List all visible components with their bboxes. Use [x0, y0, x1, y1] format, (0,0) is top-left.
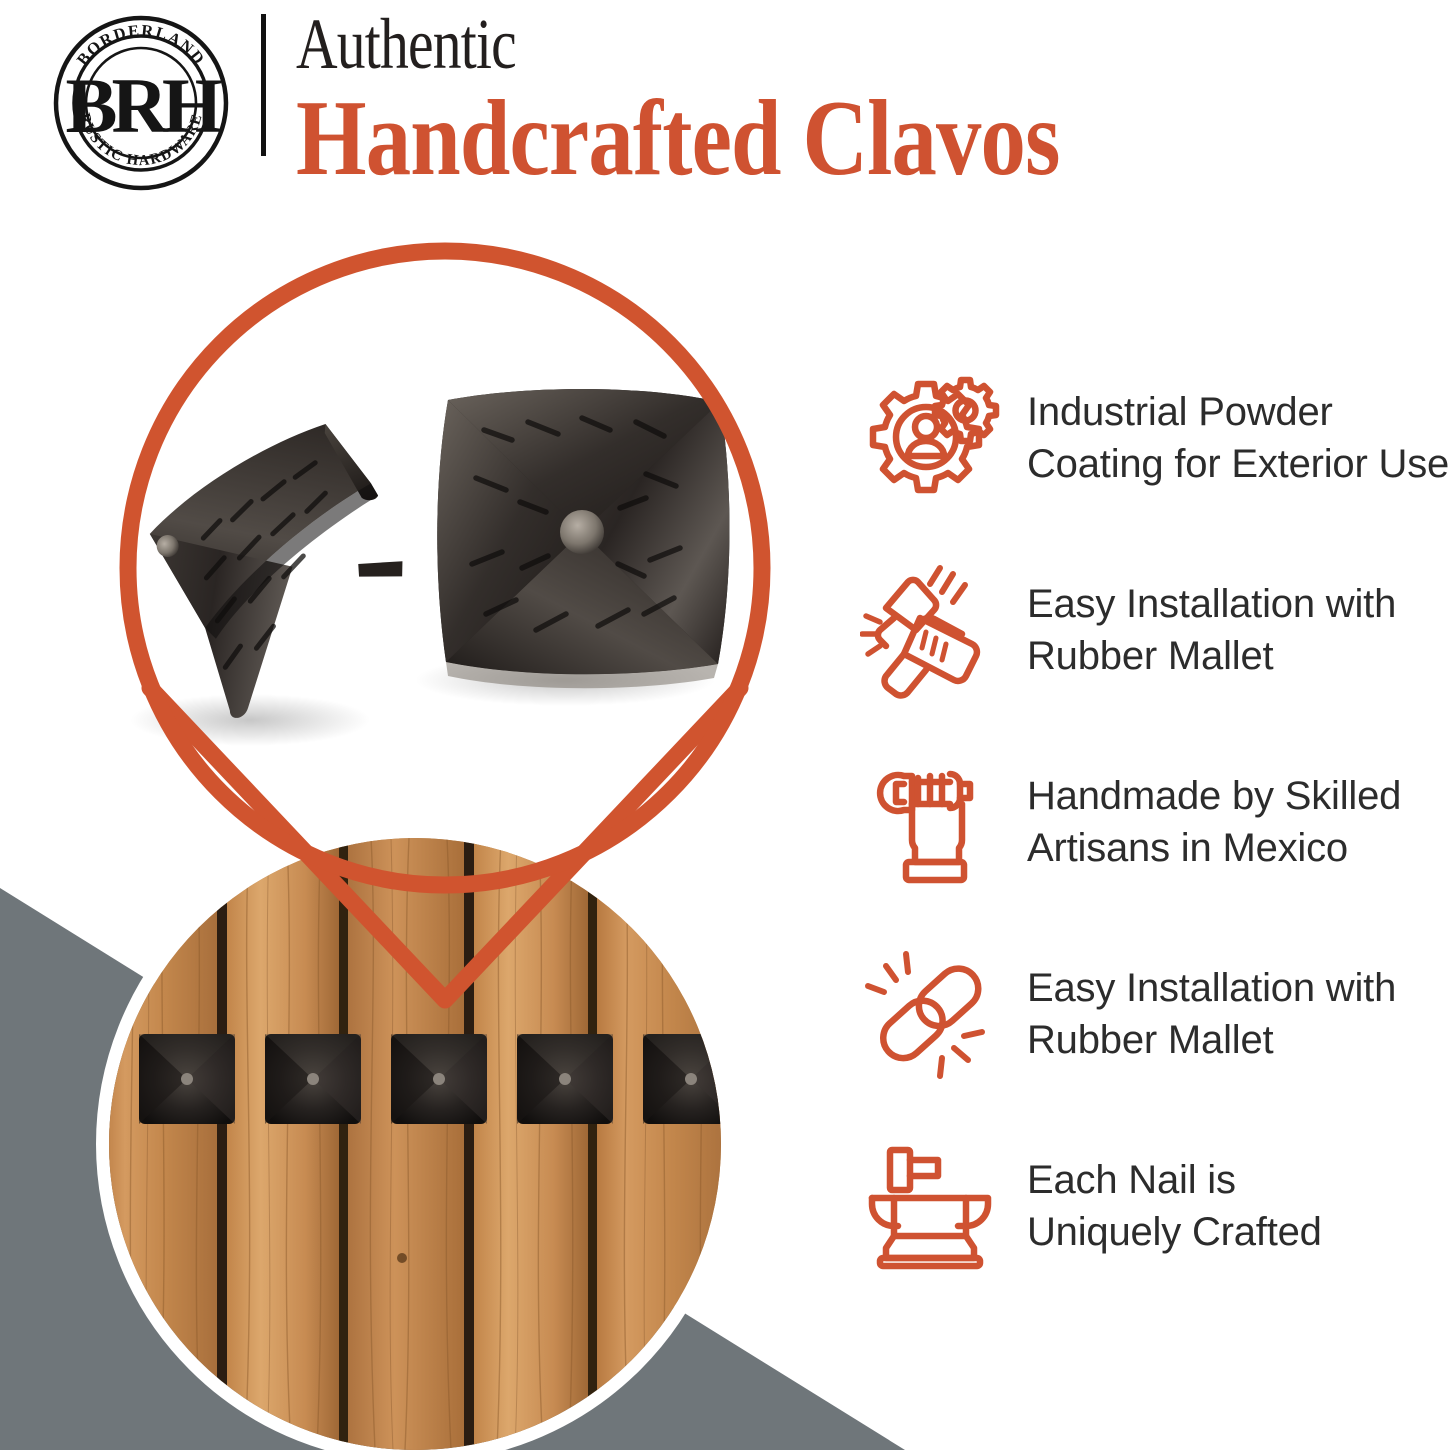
feature-label-line: Easy Installation with [1027, 578, 1448, 630]
clavo-front-face-view [437, 389, 729, 688]
anvil-hammer-icon [855, 1131, 1005, 1281]
hand-mallet-icon [855, 555, 1005, 705]
feature-label-line: Rubber Mallet [1027, 630, 1448, 682]
wooden-door-photo [96, 825, 734, 1450]
gear-person-icon [855, 363, 1005, 513]
feature-label-line: Handmade by Skilled [1027, 770, 1448, 822]
feature-label: Each Nail is Uniquely Crafted [1005, 1154, 1448, 1258]
page-title-line-2: Handcrafted Clavos [296, 84, 1254, 194]
fist-wrench-icon [855, 747, 1005, 897]
feature-label: Industrial Powder Coating for Exterior U… [1005, 386, 1448, 490]
feature-label-line: Easy Installation with [1027, 962, 1448, 1014]
infographic-page: BORDERLAND RUSTIC HARDWARE BRH Authentic… [0, 0, 1448, 1450]
feature-label-line: Rubber Mallet [1027, 1014, 1448, 1066]
feature-item: Easy Installation with Rubber Mallet [855, 936, 1448, 1092]
feature-label-line: Industrial Powder [1027, 386, 1448, 438]
header-divider [261, 14, 266, 156]
svg-text:BRH: BRH [65, 62, 221, 149]
feature-label: Handmade by Skilled Artisans in Mexico [1005, 770, 1448, 874]
header: BORDERLAND RUSTIC HARDWARE BRH Authentic… [0, 0, 1448, 200]
feature-item: Each Nail is Uniquely Crafted [855, 1128, 1448, 1284]
title-block: Authentic Handcrafted Clavos [296, 0, 1436, 194]
page-title-line-1: Authentic [296, 6, 1208, 82]
feature-label-line: Each Nail is [1027, 1154, 1448, 1206]
visual-column [0, 190, 820, 1450]
forged-clavos-product-photo [110, 350, 770, 830]
feature-item: Industrial Powder Coating for Exterior U… [855, 360, 1448, 516]
feature-label-line: Uniquely Crafted [1027, 1206, 1448, 1258]
feature-item: Easy Installation with Rubber Mallet [855, 552, 1448, 708]
clavo-angled-side-view [136, 415, 436, 723]
feature-label: Easy Installation with Rubber Mallet [1005, 962, 1448, 1066]
feature-label-line: Coating for Exterior Use [1027, 438, 1448, 490]
feature-list: Industrial Powder Coating for Exterior U… [855, 360, 1448, 1284]
borderland-rustic-hardware-logo: BORDERLAND RUSTIC HARDWARE BRH [52, 14, 230, 192]
feature-label-line: Artisans in Mexico [1027, 822, 1448, 874]
feature-label: Easy Installation with Rubber Mallet [1005, 578, 1448, 682]
chain-links-icon [855, 939, 1005, 1089]
feature-item: Handmade by Skilled Artisans in Mexico [855, 744, 1448, 900]
